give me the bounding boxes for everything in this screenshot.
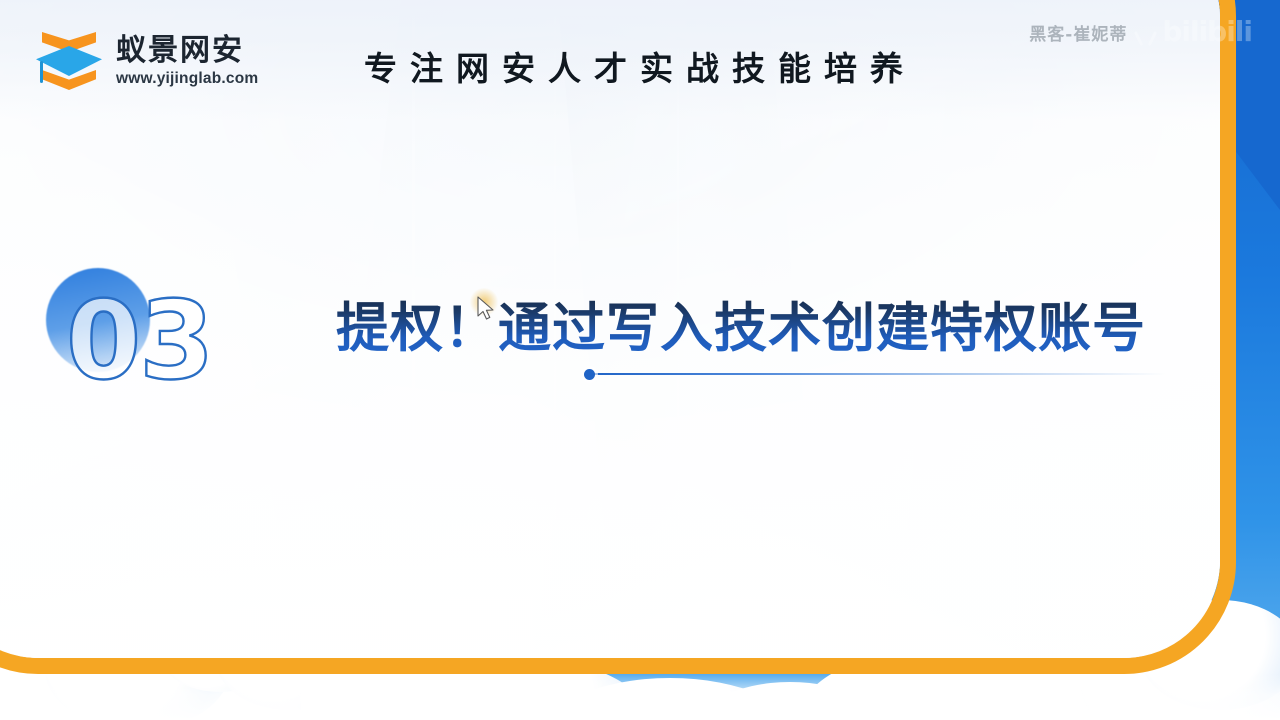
next-icon: ▶: [83, 699, 90, 708]
previous-button[interactable]: ◀: [6, 693, 27, 714]
section-number: 03: [66, 288, 212, 396]
brand-url: www.yijinglab.com: [116, 71, 258, 87]
cloud-base: [0, 674, 1280, 720]
play-icon: ▶: [48, 699, 55, 708]
brand-logo: 蚁景网安 www.yijinglab.com: [34, 28, 258, 94]
cursor-arrow-shape: [476, 296, 496, 322]
title-underline-dot: [584, 369, 595, 380]
cap-tassel-icon: [40, 61, 43, 83]
mouse-pointer-icon: [476, 296, 506, 330]
play-button[interactable]: ▶: [41, 693, 62, 714]
presentation-slide: 蚁景网安 www.yijinglab.com 专注网安人才实战技能培养 黑客-崔…: [0, 0, 1280, 720]
previous-icon: ◀: [13, 699, 20, 708]
brand-name: 蚁景网安: [116, 36, 258, 66]
graduation-cap-hexagon-logo-icon: [34, 28, 104, 94]
next-button[interactable]: ▶: [76, 693, 97, 714]
video-player-controls[interactable]: ◀ ▶ ▶ •••: [6, 693, 145, 714]
more-options-icon[interactable]: •••: [125, 697, 145, 710]
title-underline: [588, 373, 1166, 375]
section-title: 提权！通过写入技术创建特权账号: [336, 286, 1146, 362]
header-slogan: 专注网安人才实战技能培养: [364, 42, 916, 90]
